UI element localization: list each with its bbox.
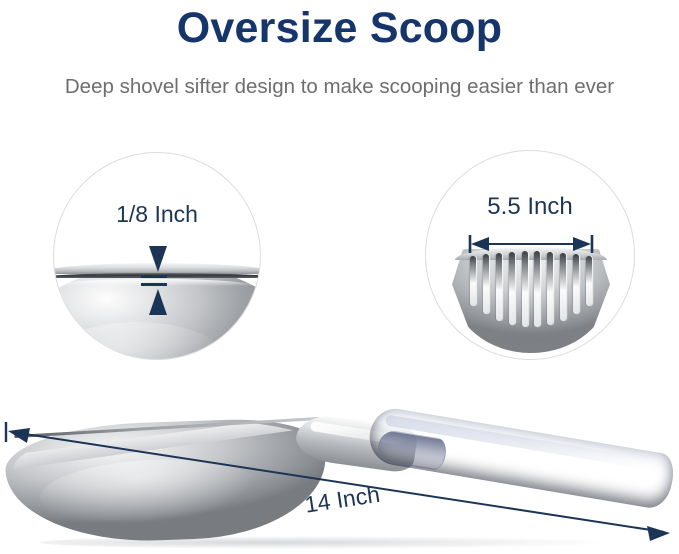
sifter-slot [560, 253, 566, 321]
sifter-slot [470, 256, 476, 306]
sifter-slot [547, 252, 553, 325]
sifter-slot [522, 251, 528, 327]
scoop-head-shadow [478, 335, 586, 347]
thickness-tick-upper [141, 275, 167, 278]
sifter-slot [509, 252, 515, 325]
sifter-slot [534, 251, 540, 327]
sifter-slot [483, 254, 489, 314]
sifter-slot-group [470, 251, 592, 327]
inset-thickness-circle: 1/8 Inch [53, 152, 261, 360]
sifter-slot [573, 254, 579, 314]
thickness-arrow-down-icon [149, 246, 167, 272]
slotted-head-illustration [426, 151, 635, 360]
infographic-canvas: Oversize Scoop Deep shovel sifter design… [0, 0, 679, 554]
thickness-label: 1/8 Inch [54, 201, 260, 228]
product-image [0, 386, 679, 554]
sifter-slot [496, 253, 502, 321]
page-subtitle: Deep shovel sifter design to make scoopi… [0, 74, 679, 100]
width-dimension-arrow-icon [467, 233, 595, 255]
inset-width-circle: 5.5 Inch [425, 150, 635, 360]
thickness-tick-lower [141, 283, 167, 286]
sifter-slot [586, 256, 592, 306]
page-title: Oversize Scoop [0, 2, 679, 54]
thickness-arrow-up-icon [149, 289, 167, 315]
width-label: 5.5 Inch [426, 193, 634, 221]
